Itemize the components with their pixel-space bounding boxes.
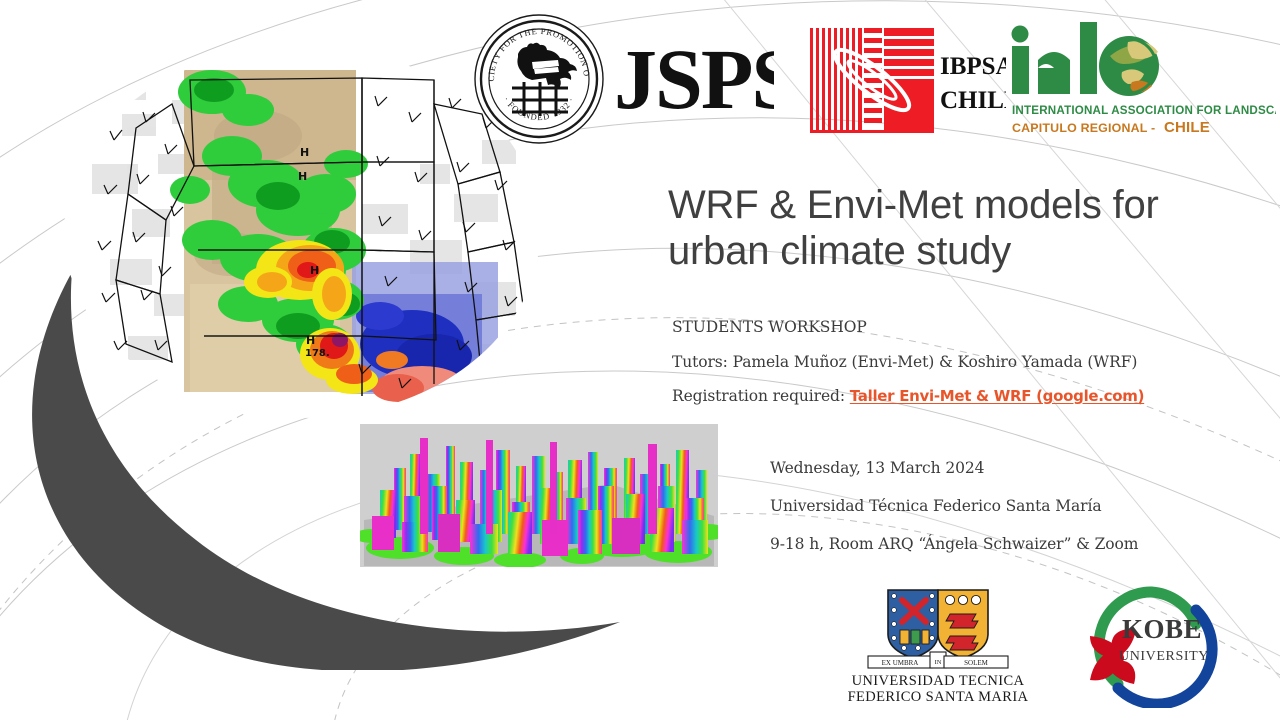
utfsm-name-line2: FEDERICO SANTA MARIA <box>848 689 1029 704</box>
registration-link[interactable]: Taller Envi-Met & WRF (google.com) <box>850 387 1144 405</box>
utfsm-motto-mid: IN <box>935 659 942 666</box>
slide-title: WRF & Envi-Met models for urban climate … <box>668 182 1248 275</box>
ibpsa-label-line1: IBPSA <box>940 53 1006 80</box>
presentation-slide: H H H H 178. <box>0 0 1280 720</box>
event-date: Wednesday, 13 March 2024 <box>770 459 1280 477</box>
jsps-seal-icon: JAPAN SOCIETY FOR THE PROMOTION OF SCIEN… <box>472 12 606 146</box>
ibpsa-chile-logo: IBPSA CHILE <box>806 22 1006 138</box>
iale-subtitle: INTERNATIONAL ASSOCIATION FOR LANDSCAPE … <box>1012 104 1276 117</box>
svg-text:CAPITULO REGIONAL - CH: CAPITULO REGIONAL - CHILE <box>1012 119 1210 136</box>
workshop-details-block: STUDENTS WORKSHOP Tutors: Pamela Muñoz (… <box>672 318 1272 422</box>
utfsm-motto-left: EX UMBRA <box>882 659 919 667</box>
event-time-room: 9-18 h, Room ARQ “Ángela Schwaizer” & Zo… <box>770 535 1280 553</box>
sponsor-logo-bar: JAPAN SOCIETY FOR THE PROMOTION OF SCIEN… <box>468 8 1276 148</box>
slide-title-line2: urban climate study <box>668 228 1248 274</box>
iale-chile-logo: INTERNATIONAL ASSOCIATION FOR LANDSCAPE … <box>1006 16 1276 138</box>
utfsm-name-line1: UNIVERSIDAD TECNICA <box>852 673 1025 689</box>
kobe-name-line1: KOBE <box>1122 614 1202 644</box>
jsps-wordmark: JSPS <box>614 26 774 130</box>
utfsm-logo: EX UMBRA IN SOLEM UNIVERSIDAD TECNICA FE… <box>828 586 1048 704</box>
svg-text:178.: 178. <box>305 348 330 359</box>
kobe-university-logo: KOBE UNIVERSITY <box>1078 580 1224 708</box>
workshop-tutors: Tutors: Pamela Muñoz (Envi-Met) & Koshir… <box>672 353 1272 371</box>
registration-line: Registration required: Taller Envi-Met &… <box>672 387 1272 405</box>
slide-title-line1: WRF & Envi-Met models for <box>668 182 1248 228</box>
svg-text:H: H <box>300 146 309 159</box>
envimet-3d-urban-model <box>360 424 718 567</box>
svg-text:H: H <box>298 170 307 183</box>
kobe-name-line2: UNIVERSITY <box>1119 649 1209 664</box>
registration-label: Registration required: <box>672 387 845 405</box>
jsps-wordmark-text: JSPS <box>614 31 774 127</box>
utfsm-motto-right: SOLEM <box>964 659 989 667</box>
ibpsa-label-line2: CHILE <box>940 87 1006 114</box>
svg-text:H: H <box>310 264 319 277</box>
iale-chapter: CHILE <box>1164 119 1210 136</box>
workshop-kind: STUDENTS WORKSHOP <box>672 318 1272 336</box>
iale-chapter-prefix: CAPITULO REGIONAL - <box>1012 121 1155 135</box>
event-venue: Universidad Técnica Federico Santa María <box>770 497 1280 515</box>
logistics-block: Wednesday, 13 March 2024 Universidad Téc… <box>770 459 1280 573</box>
svg-text:H: H <box>306 334 315 347</box>
